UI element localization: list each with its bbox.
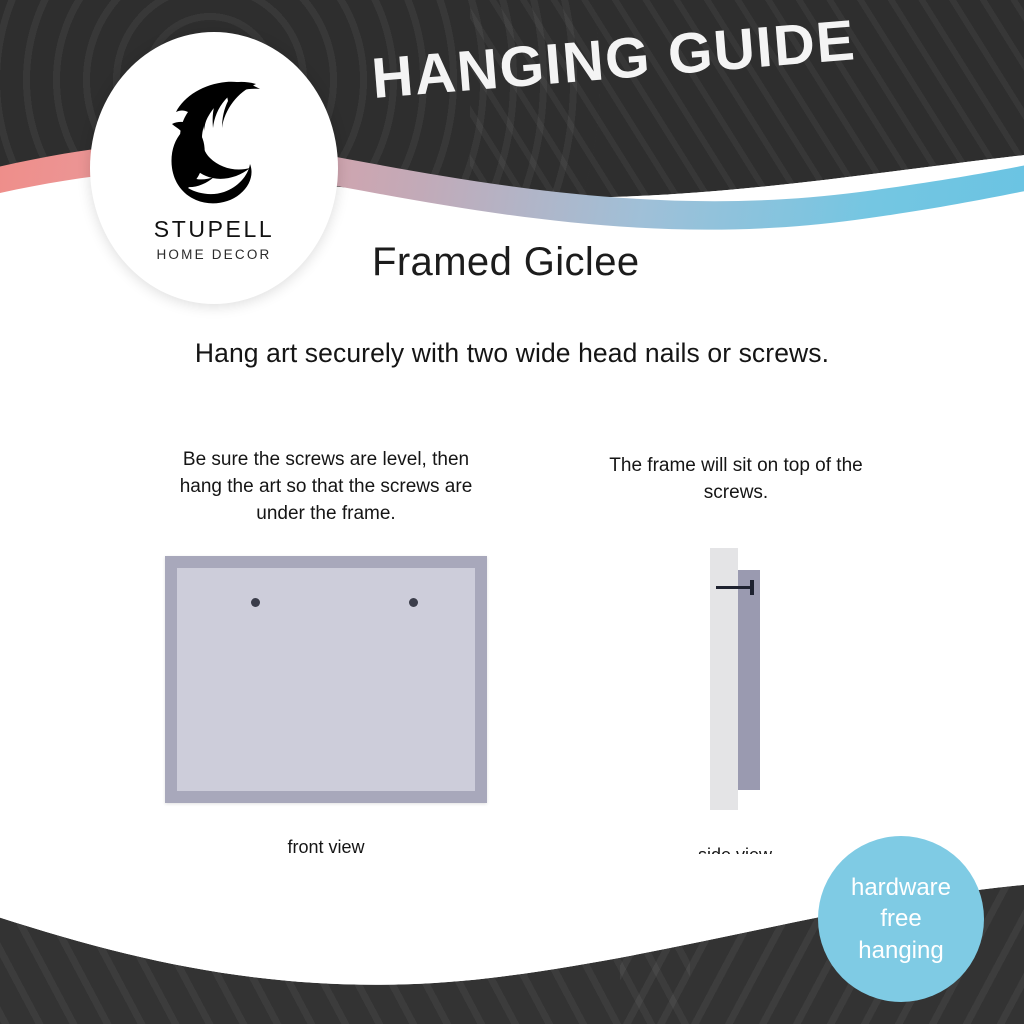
logo-brand-name: STUPELL xyxy=(154,216,274,243)
side-view-caption: The frame will sit on top of the screws. xyxy=(608,453,864,507)
screw-dot-right xyxy=(409,598,418,607)
product-type-title: Framed Giclee xyxy=(372,240,640,285)
badge-line-2: free xyxy=(880,903,921,934)
badge-line-1: hardware xyxy=(851,872,951,903)
logo-brand-subtitle: HOME DECOR xyxy=(156,247,271,262)
side-view-frame xyxy=(738,570,760,790)
badge-line-3: hanging xyxy=(858,935,943,966)
frame-mat-area xyxy=(177,568,475,791)
screw-dot-left xyxy=(251,598,260,607)
nail-shaft-icon xyxy=(716,586,754,589)
hanging-guide-page: STUPELL HOME DECOR HANGING GUIDE Framed … xyxy=(0,0,1024,1024)
front-view-caption: Be sure the screws are level, then hang … xyxy=(170,447,482,528)
front-view-frame-diagram xyxy=(165,556,487,803)
main-instruction-text: Hang art securely with two wide head nai… xyxy=(0,338,1024,369)
nail-head-icon xyxy=(750,580,754,595)
stupell-logo-badge: STUPELL HOME DECOR xyxy=(90,32,338,304)
hardware-free-hanging-badge: hardware free hanging xyxy=(818,836,984,1002)
stupell-swirl-s-logo-icon xyxy=(158,76,270,204)
